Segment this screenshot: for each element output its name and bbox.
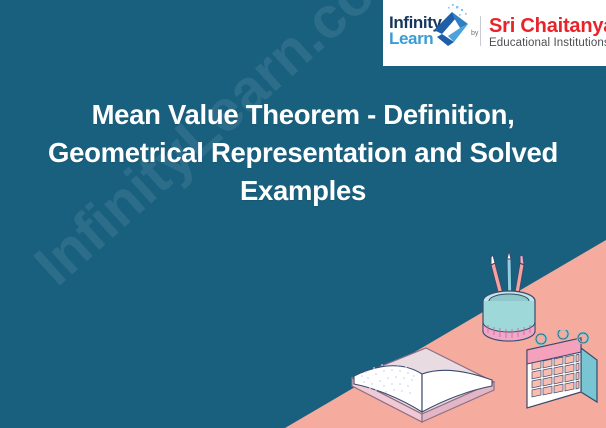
page-title: Mean Value Theorem - Definition, Geometr…	[26, 96, 580, 210]
logo-connector-by: by	[471, 30, 478, 37]
sri-chaitanya-title: Sri Chaitanya	[489, 16, 606, 37]
brand-logo-panel[interactable]: Infinity Learn	[383, 0, 606, 66]
infinity-learn-logo[interactable]: Infinity Learn	[383, 0, 475, 66]
sri-chaitanya-subtitle: Educational Institutions	[489, 37, 606, 50]
infinity-arrow-mark-icon	[430, 4, 474, 50]
logo-divider	[480, 16, 481, 46]
thumbnail-canvas: InfinityLearn.com Infinity Learn	[0, 0, 606, 428]
sri-chaitanya-logo[interactable]: Sri Chaitanya Educational Institutions	[489, 16, 606, 50]
desk-calendar-icon	[519, 330, 606, 428]
